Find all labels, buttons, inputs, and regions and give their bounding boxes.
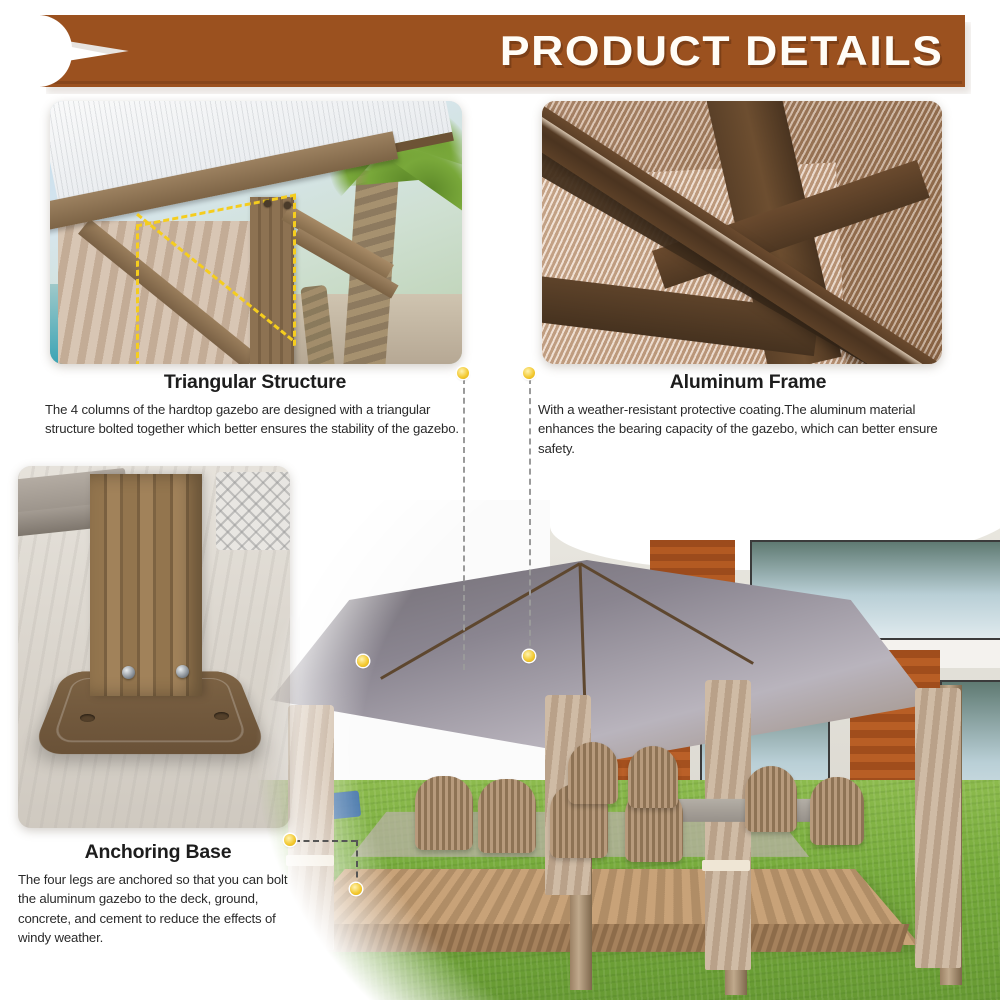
bolt <box>264 200 271 207</box>
connector-line-aluminum <box>529 378 531 656</box>
feature-body: With a weather-resistant protective coat… <box>538 400 958 458</box>
feature-image-aluminum-frame <box>542 101 942 364</box>
deck-edge-boards <box>280 924 909 952</box>
curtain-tieback <box>286 855 334 866</box>
feature-heading: Aluminum Frame <box>538 371 958 394</box>
dining-chair <box>478 779 536 853</box>
callout-dot-aluminum-top <box>523 367 535 379</box>
gazebo-curtain <box>288 705 334 950</box>
connector-line-triangular <box>463 378 465 670</box>
dining-chair <box>745 766 797 832</box>
bolt <box>284 202 291 209</box>
feature-text-triangular-structure: Triangular Structure The 4 columns of th… <box>45 371 465 439</box>
feature-body: The 4 columns of the hardtop gazebo are … <box>45 400 465 439</box>
page-title: PRODUCT DETAILS <box>500 27 943 75</box>
feature-text-aluminum-frame: Aluminum Frame With a weather-resistant … <box>538 371 958 458</box>
header-banner: PRODUCT DETAILS <box>40 15 965 87</box>
callout-dot-aluminum-target <box>523 650 535 662</box>
connector-line-anchor-vertical <box>356 840 358 888</box>
callout-dot-triangular-target <box>357 655 369 667</box>
callout-dot-anchor-source <box>284 834 296 846</box>
dining-chair <box>628 746 678 808</box>
infographic-canvas: PRODUCT DETAILS <box>0 0 1000 1000</box>
dining-chair <box>415 776 473 850</box>
feature-image-triangular-structure <box>50 101 462 364</box>
aluminum-post <box>90 474 202 696</box>
anchor-bolt-hole <box>80 714 95 722</box>
gazebo-curtain <box>915 688 961 968</box>
anchor-screw <box>122 666 135 679</box>
connector-line-anchor-horizontal <box>294 840 357 842</box>
feature-heading: Triangular Structure <box>45 371 465 394</box>
banner-body: PRODUCT DETAILS <box>40 15 965 87</box>
dining-chair <box>810 777 864 845</box>
anchor-bolt-hole <box>214 712 229 720</box>
dining-chair <box>568 742 618 804</box>
curtain-tieback <box>702 860 750 871</box>
callout-dot-anchor-target <box>350 883 362 895</box>
callout-dot-triangular-top <box>457 367 469 379</box>
banner-bottom-line <box>40 81 962 84</box>
anchor-screw <box>176 665 189 678</box>
hero-image-gazebo-scene <box>250 500 1000 1000</box>
